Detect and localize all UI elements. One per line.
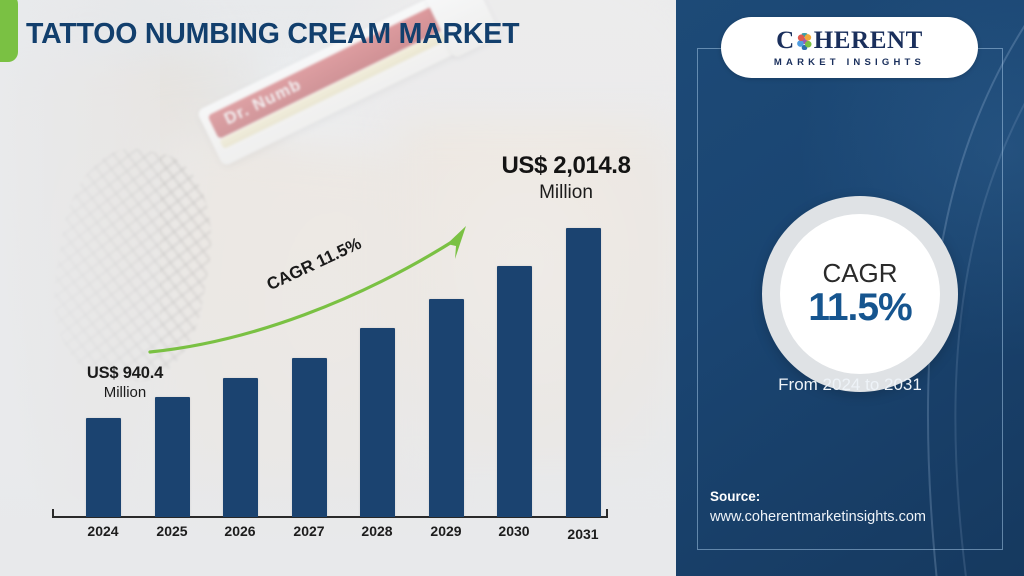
logo-tagline: MARKET INSIGHTS <box>774 57 925 68</box>
x-tick-2025: 2025 <box>137 523 207 539</box>
x-tick-2027: 2027 <box>274 523 344 539</box>
end-value-callout: US$ 2,014.8 Million <box>466 152 666 204</box>
cagr-value: 11.5% <box>808 288 911 329</box>
logo-letter-c: C <box>776 28 795 53</box>
bar-chart: 2024 2025 2026 2027 2028 2029 2030 2031 <box>0 0 676 576</box>
globe-icon <box>796 33 813 50</box>
start-value-callout: US$ 940.4 Million <box>55 364 195 401</box>
end-value: US$ 2,014.8 <box>466 152 666 180</box>
infographic-canvas: Dr. Numb TATTOO NUMBING CREAM MARKET 202… <box>0 0 1024 576</box>
x-tick-2028: 2028 <box>342 523 412 539</box>
title-underline <box>26 62 601 64</box>
bar-2030[interactable] <box>497 266 532 517</box>
bar-2024[interactable] <box>86 418 121 517</box>
x-axis-tick-start <box>52 509 54 518</box>
x-tick-2029: 2029 <box>411 523 481 539</box>
logo-wordmark: C HERENT <box>776 28 923 53</box>
x-axis-tick-end <box>606 509 608 518</box>
logo-rest: HERENT <box>814 28 923 53</box>
bar-2025[interactable] <box>155 397 190 517</box>
bar-2026[interactable] <box>223 378 258 517</box>
cagr-badge-inner: CAGR 11.5% <box>780 214 940 374</box>
x-tick-2026: 2026 <box>205 523 275 539</box>
green-accent-tab <box>0 0 18 62</box>
cagr-label: CAGR <box>822 260 897 286</box>
end-unit: Million <box>466 182 666 204</box>
bar-2028[interactable] <box>360 328 395 517</box>
forecast-period: From 2024 to 2031 <box>676 375 1024 395</box>
start-value: US$ 940.4 <box>55 364 195 383</box>
bar-2029[interactable] <box>429 299 464 517</box>
start-unit: Million <box>55 384 195 401</box>
company-logo[interactable]: C HERENT MARKET INSIGHTS <box>721 17 978 78</box>
x-tick-2030: 2030 <box>479 523 549 539</box>
source-label: Source: <box>710 489 926 504</box>
source-block: Source: www.coherentmarketinsights.com <box>710 489 926 525</box>
x-tick-2031: 2031 <box>548 526 618 542</box>
x-tick-2024: 2024 <box>68 523 138 539</box>
bar-2031[interactable] <box>566 228 601 517</box>
source-url[interactable]: www.coherentmarketinsights.com <box>710 509 926 525</box>
bar-2027[interactable] <box>292 358 327 517</box>
page-title: TATTOO NUMBING CREAM MARKET <box>26 20 519 50</box>
cagr-badge: CAGR 11.5% <box>762 196 958 392</box>
